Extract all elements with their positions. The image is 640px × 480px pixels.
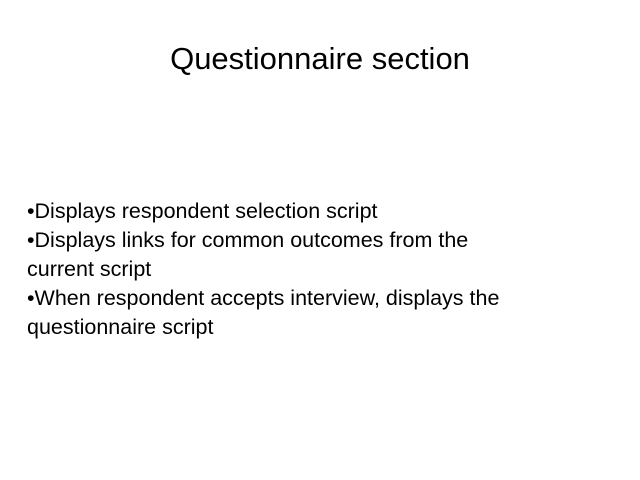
list-item: •Displays links for common outcomes from…	[27, 226, 617, 255]
list-item: •When respondent accepts interview, disp…	[27, 284, 617, 313]
bullet-list: •Displays respondent selection script •D…	[27, 197, 617, 342]
list-item: •Displays respondent selection script	[27, 197, 617, 226]
list-item-continuation: questionnaire script	[27, 313, 617, 342]
page-title: Questionnaire section	[0, 40, 640, 78]
list-item-continuation: current script	[27, 255, 617, 284]
slide-canvas: Questionnaire section •Displays responde…	[0, 0, 640, 480]
